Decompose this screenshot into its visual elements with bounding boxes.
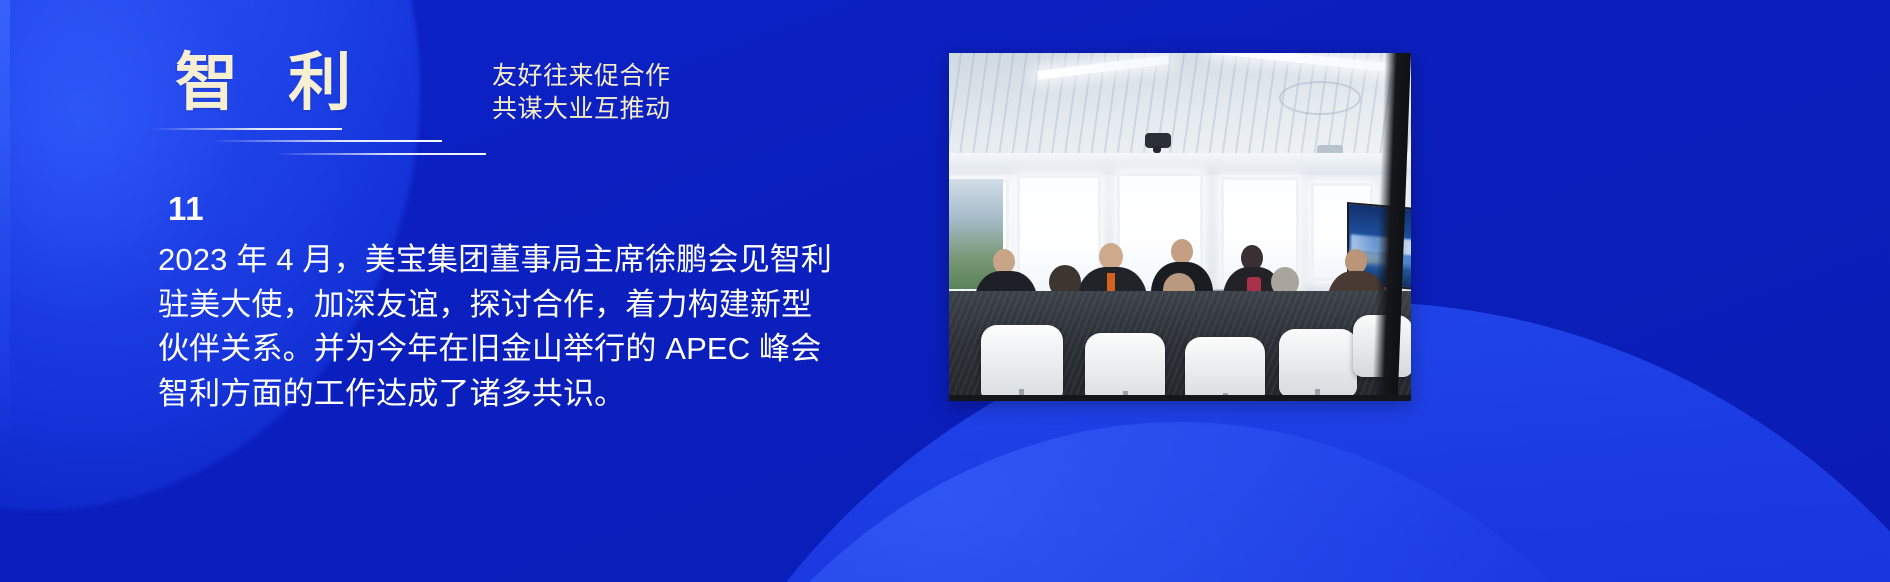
meeting-photo-image	[949, 53, 1411, 401]
title-rule-3	[274, 153, 486, 155]
photo-bottom-edge	[949, 395, 1411, 401]
title-underline-decoration	[152, 128, 492, 164]
page-title-text: 智 利	[175, 52, 505, 115]
photo-wall-band	[949, 153, 1411, 175]
item-index-number: 11	[168, 190, 204, 228]
meeting-photo	[949, 53, 1411, 401]
page-title: 智 利	[175, 52, 505, 115]
decorative-left-edge	[0, 0, 10, 582]
photo-chair-4	[1279, 329, 1357, 397]
subtitle-line-1: 友好往来促合作	[492, 60, 671, 93]
title-rule-1	[152, 128, 342, 130]
photo-ceiling-camera	[1145, 133, 1171, 148]
slide-root: 智 利 友好往来促合作 共谋大业互推动 11 2023 年 4 月，美宝集团董事…	[0, 0, 1890, 582]
body-paragraph: 2023 年 4 月，美宝集团董事局主席徐鹏会见智利驻美大使，加深友谊，探讨合作…	[158, 238, 838, 417]
subtitle: 友好往来促合作 共谋大业互推动	[492, 60, 671, 126]
photo-ceiling-vent	[1279, 81, 1361, 115]
title-rule-2	[212, 140, 442, 142]
photo-chair-3	[1185, 337, 1265, 401]
subtitle-line-2: 共谋大业互推动	[492, 93, 671, 126]
